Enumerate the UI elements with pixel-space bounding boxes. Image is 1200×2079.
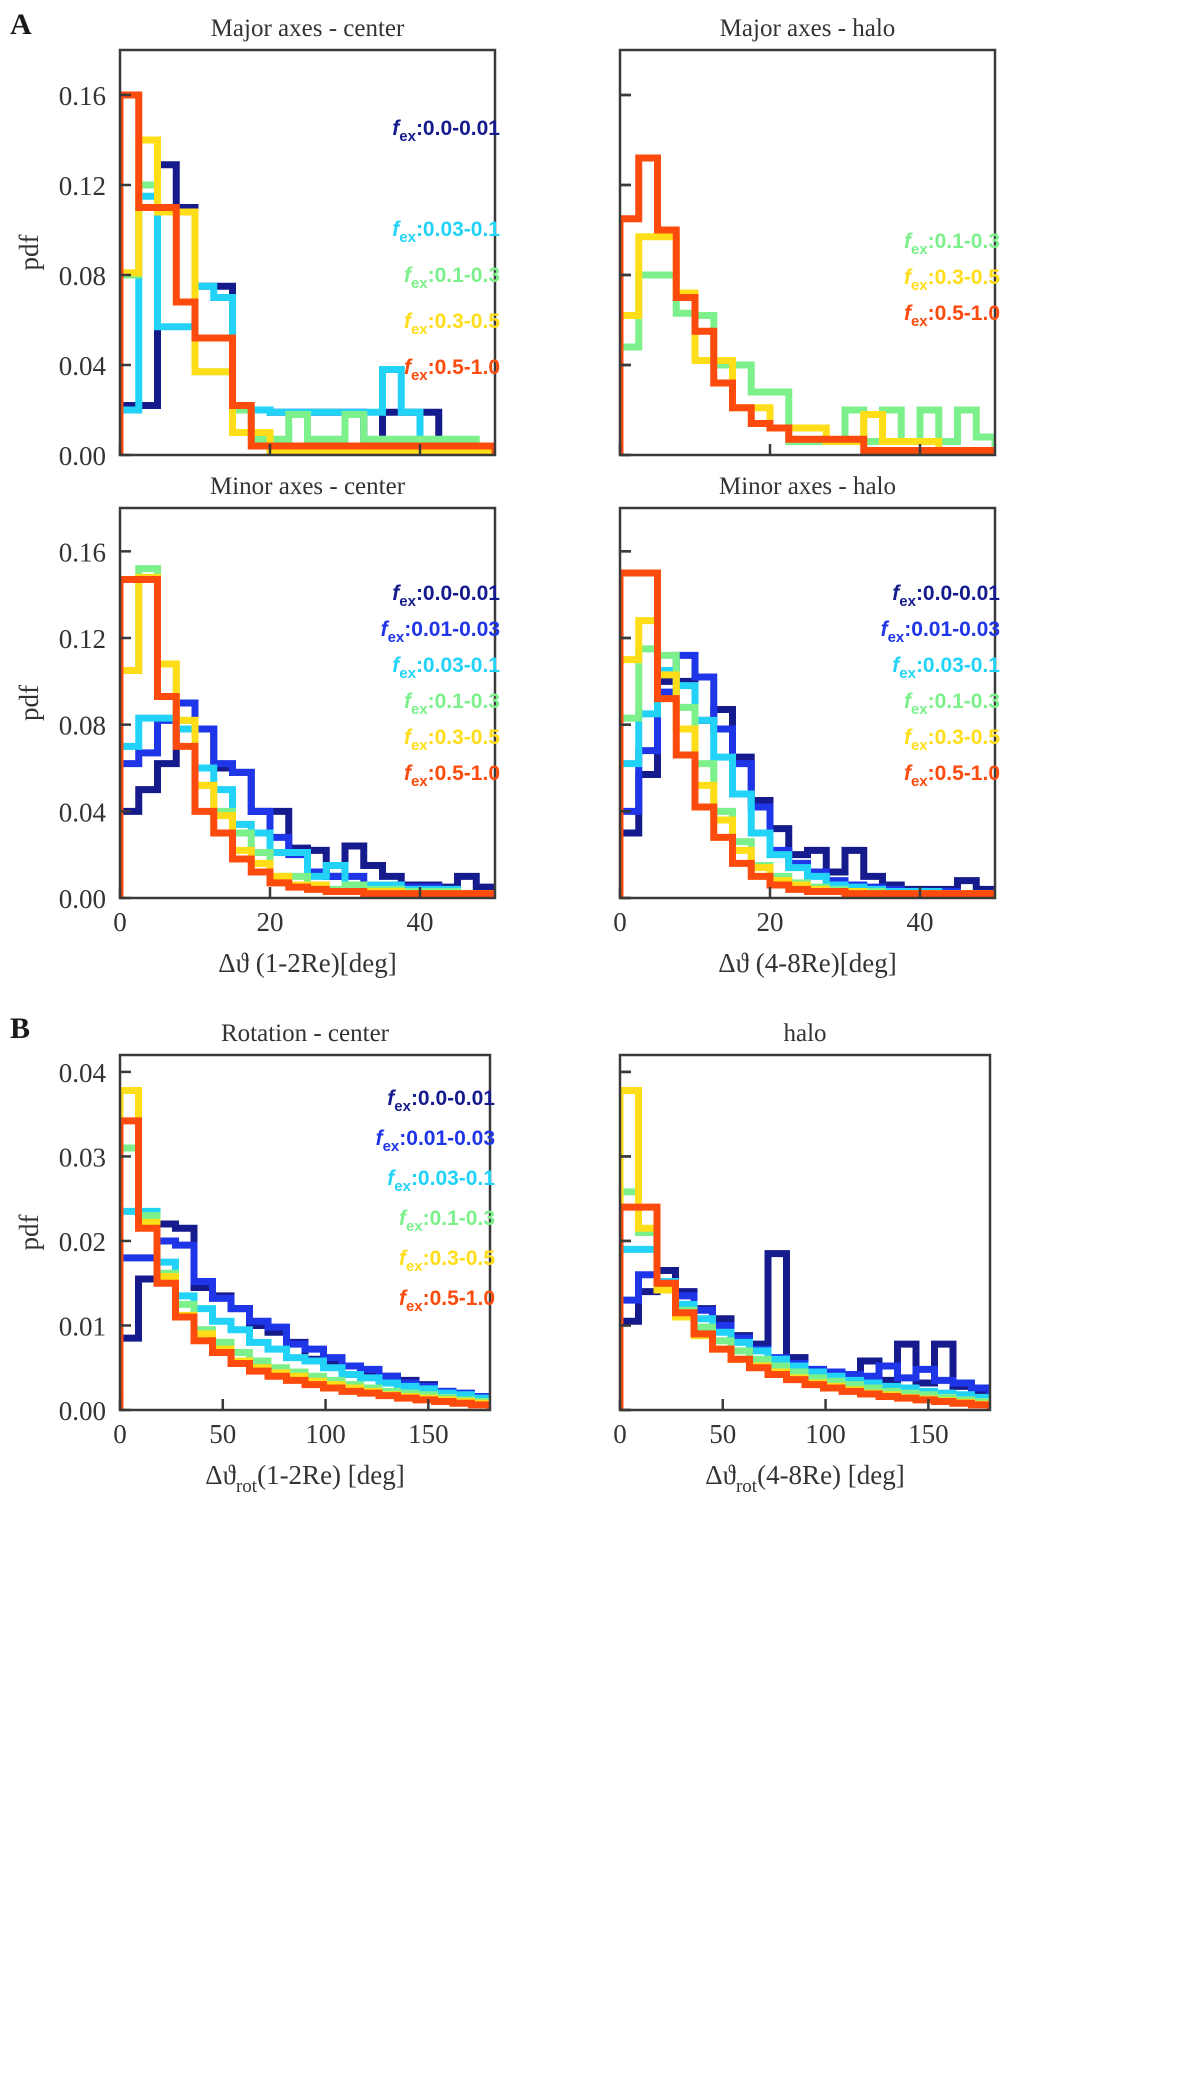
x-tick-label: 50 — [209, 1419, 236, 1449]
y-tick-label: 0.00 — [59, 441, 106, 471]
legend-item-f_ex:0.0-0.01: fex:0.0-0.01 — [392, 117, 500, 145]
x-axis-label-minor-center: Δϑ (1-2Re)[deg] — [218, 948, 396, 978]
chart-major-halo: Major axes - halofex:0.1-0.3fex:0.3-0.5f… — [620, 15, 1000, 455]
legend-item-f_ex:0.3-0.5: fex:0.3-0.5 — [404, 726, 500, 754]
legend-item-f_ex:0.03-0.1: fex:0.03-0.1 — [392, 218, 500, 246]
chart-title-minor-center: Minor axes - center — [210, 473, 406, 500]
y-axis-label-rotation-center: pdf — [14, 1215, 44, 1251]
y-tick-label: 0.00 — [59, 884, 106, 914]
legend-item-f_ex:0.0-0.01: fex:0.0-0.01 — [892, 582, 1000, 610]
legend-item-f_ex:0.5-1.0: fex:0.5-1.0 — [404, 356, 500, 384]
legend-item-f_ex:0.5-1.0: fex:0.5-1.0 — [404, 762, 500, 790]
legend-item-f_ex:0.5-1.0: fex:0.5-1.0 — [399, 1287, 495, 1315]
legend-item-f_ex:0.03-0.1: fex:0.03-0.1 — [892, 654, 1000, 682]
x-tick-label: 0 — [113, 1419, 127, 1449]
legend-item-f_ex:0.5-1.0: fex:0.5-1.0 — [904, 302, 1000, 330]
x-axis-label-minor-halo: Δϑ (4-8Re)[deg] — [718, 948, 896, 978]
chart-rotation-center: Rotation - center0.000.010.020.030.04050… — [14, 1020, 495, 1497]
legend-item-f_ex:0.1-0.3: fex:0.1-0.3 — [404, 690, 500, 718]
legend-item-f_ex:0.03-0.1: fex:0.03-0.1 — [387, 1167, 495, 1195]
legend-item-f_ex:0.01-0.03: fex:0.01-0.03 — [381, 618, 500, 646]
legend-item-f_ex:0.0-0.01: fex:0.0-0.01 — [392, 582, 500, 610]
legend-item-f_ex:0.03-0.1: fex:0.03-0.1 — [392, 654, 500, 682]
y-tick-label: 0.02 — [59, 1227, 106, 1257]
legend-item-f_ex:0.01-0.03: fex:0.01-0.03 — [881, 618, 1000, 646]
y-tick-label: 0.12 — [59, 624, 106, 654]
legend-item-f_ex:0.1-0.3: fex:0.1-0.3 — [399, 1207, 495, 1235]
y-tick-label: 0.16 — [59, 81, 106, 111]
panel-letter-b: B — [10, 1012, 30, 1046]
x-tick-label: 0 — [113, 907, 127, 937]
y-tick-label: 0.04 — [59, 1058, 107, 1088]
legend-item-f_ex:0.3-0.5: fex:0.3-0.5 — [904, 266, 1000, 294]
legend-item-f_ex:0.3-0.5: fex:0.3-0.5 — [404, 310, 500, 338]
x-tick-label: 40 — [907, 907, 934, 937]
chart-title-rotation-halo: halo — [783, 1020, 826, 1047]
y-tick-label: 0.01 — [59, 1311, 106, 1341]
x-tick-label: 20 — [757, 907, 784, 937]
chart-major-center: Major axes - center0.000.040.080.120.16p… — [14, 15, 500, 471]
y-tick-label: 0.12 — [59, 171, 106, 201]
y-tick-label: 0.16 — [59, 537, 106, 567]
x-tick-label: 50 — [709, 1419, 736, 1449]
figure-root: A B Major axes - center0.000.040.080.120… — [0, 0, 1200, 2079]
panel-letter-a: A — [10, 8, 32, 42]
y-tick-label: 0.04 — [59, 351, 107, 381]
chart-title-minor-halo: Minor axes - halo — [719, 473, 896, 500]
y-tick-label: 0.03 — [59, 1142, 106, 1172]
series-group-rotation-halo — [620, 1091, 990, 1411]
legend-item-f_ex:0.1-0.3: fex:0.1-0.3 — [904, 690, 1000, 718]
y-axis-label-major-center: pdf — [14, 235, 44, 271]
x-tick-label: 100 — [805, 1419, 846, 1449]
y-tick-label: 0.04 — [59, 797, 107, 827]
x-axis-label-rotation-halo: Δϑrot(4-8Re) [deg] — [705, 1460, 905, 1497]
chart-rotation-halo: halo050100150Δϑrot(4-8Re) [deg] — [613, 1020, 990, 1497]
chart-minor-halo: Minor axes - halo02040Δϑ (4-8Re)[deg]fex… — [613, 473, 1000, 978]
legend-item-f_ex:0.1-0.3: fex:0.1-0.3 — [404, 264, 500, 292]
x-tick-label: 100 — [305, 1419, 346, 1449]
figure-canvas: Major axes - center0.000.040.080.120.16p… — [0, 0, 1200, 2079]
legend-item-f_ex:0.5-1.0: fex:0.5-1.0 — [904, 762, 1000, 790]
y-tick-label: 0.08 — [59, 261, 106, 291]
legend-item-f_ex:0.01-0.03: fex:0.01-0.03 — [376, 1127, 495, 1155]
x-axis-label-rotation-center: Δϑrot(1-2Re) [deg] — [205, 1460, 405, 1497]
x-tick-label: 0 — [613, 907, 627, 937]
legend-item-f_ex:0.3-0.5: fex:0.3-0.5 — [904, 726, 1000, 754]
y-tick-label: 0.08 — [59, 711, 106, 741]
chart-minor-center: Minor axes - center0.000.040.080.120.160… — [14, 473, 500, 978]
x-tick-label: 40 — [407, 907, 434, 937]
chart-title-major-center: Major axes - center — [211, 15, 405, 42]
y-axis-label-minor-center: pdf — [14, 685, 44, 721]
y-tick-label: 0.00 — [59, 1396, 106, 1426]
x-tick-label: 20 — [257, 907, 284, 937]
chart-title-major-halo: Major axes - halo — [720, 15, 896, 42]
x-tick-label: 150 — [908, 1419, 949, 1449]
legend-item-f_ex:0.3-0.5: fex:0.3-0.5 — [399, 1247, 495, 1275]
chart-title-rotation-center: Rotation - center — [221, 1020, 390, 1047]
legend-item-f_ex:0.0-0.01: fex:0.0-0.01 — [387, 1087, 495, 1115]
x-tick-label: 0 — [613, 1419, 627, 1449]
legend-item-f_ex:0.1-0.3: fex:0.1-0.3 — [904, 230, 1000, 258]
x-tick-label: 150 — [408, 1419, 449, 1449]
